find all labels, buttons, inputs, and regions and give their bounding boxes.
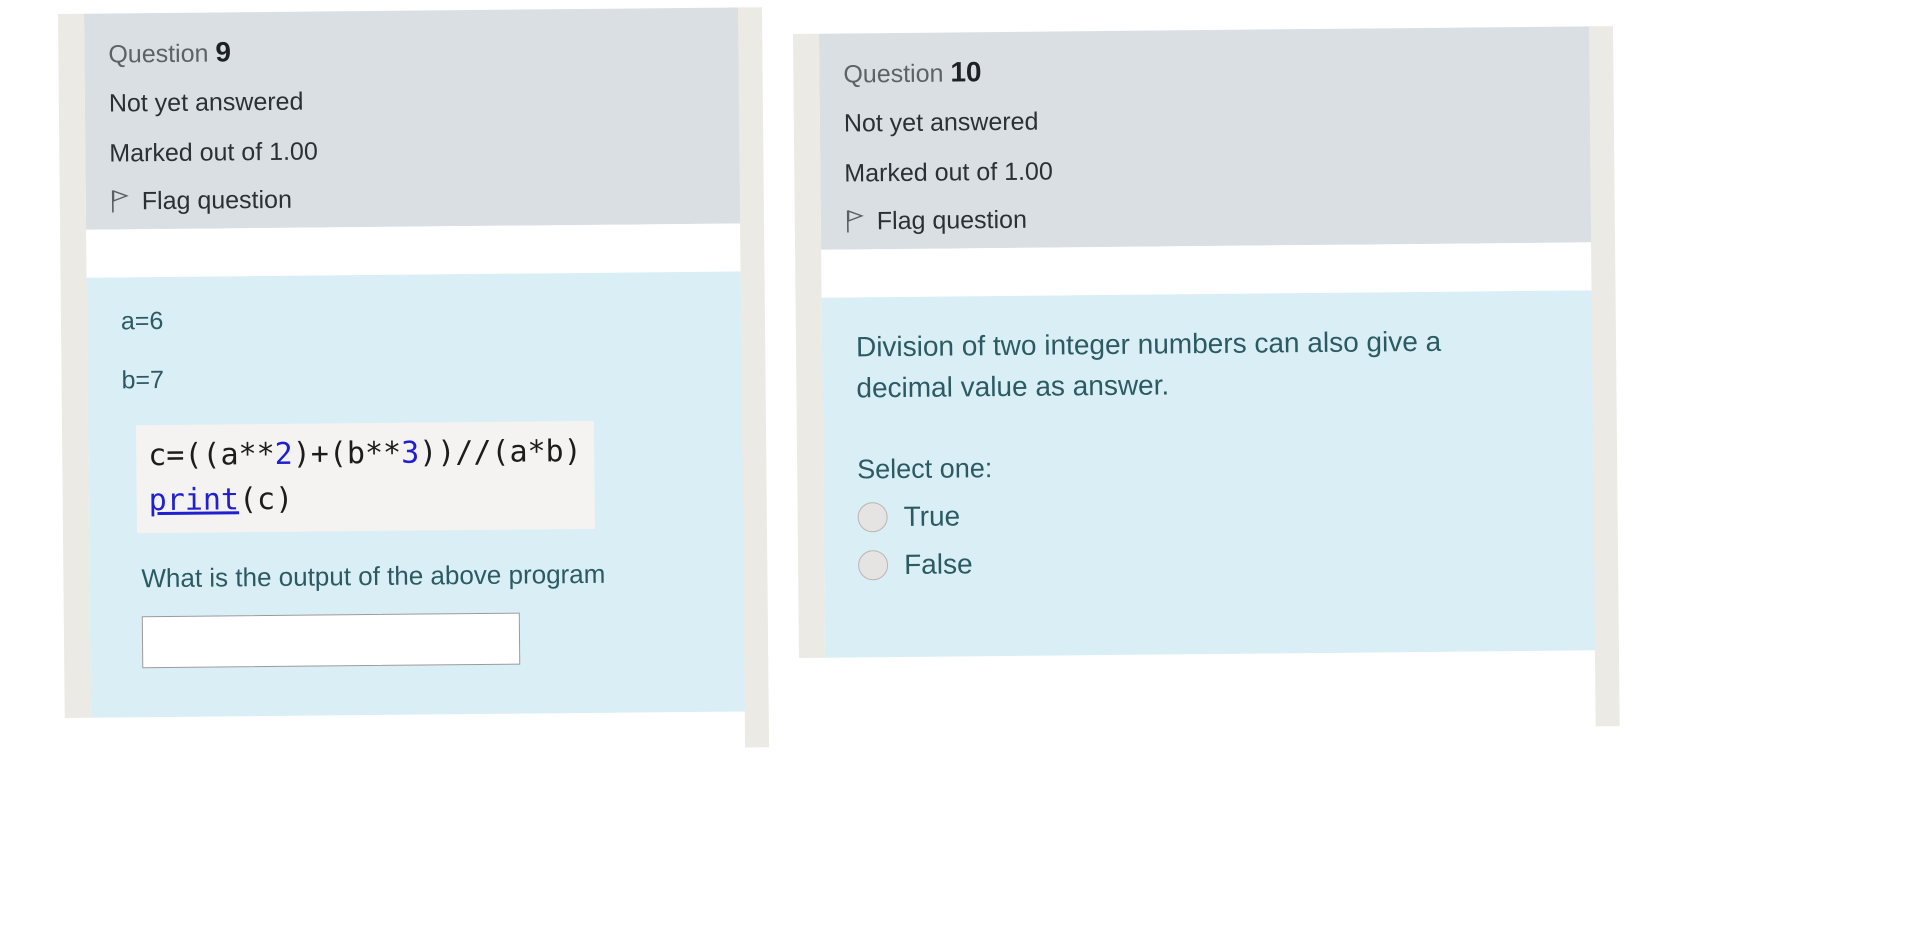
question-content: a=6 b=7 c=((a**2)+(b**3))//(a*b) print(c…: [87, 271, 755, 717]
code-variable-a: a=6: [121, 302, 723, 337]
code-line-1: c=((a**2)+(b**3))//(a*b): [148, 434, 582, 473]
question-content: Division of two integer numbers can also…: [822, 290, 1599, 657]
question-state: Not yet answered: [109, 83, 725, 120]
question-statement: Division of two integer numbers can also…: [856, 322, 1447, 409]
question-grade: Marked out of 1.00: [844, 151, 1570, 189]
answer-option-label: False: [904, 548, 973, 581]
flag-question-label: Flag question: [142, 186, 292, 216]
flag-question-button[interactable]: Flag question: [845, 200, 1571, 236]
question-grade: Marked out of 1.00: [109, 132, 725, 169]
code-block: c=((a**2)+(b**3))//(a*b) print(c): [136, 421, 595, 533]
code-line-2: print(c): [149, 482, 294, 518]
question-number: Question 9: [108, 30, 724, 71]
question-gap: [86, 223, 750, 277]
flag-icon: [110, 190, 130, 214]
question-number-label: Question: [843, 60, 943, 89]
question-number: Question 10: [843, 49, 1569, 91]
radio-button-false[interactable]: [858, 550, 888, 580]
question-state: Not yet answered: [844, 102, 1570, 140]
answer-input[interactable]: [142, 613, 520, 669]
radio-button-true[interactable]: [858, 502, 888, 532]
flag-icon: [845, 210, 865, 234]
select-one-label: Select one:: [857, 448, 1569, 486]
question-card-9: Question 9 Not yet answered Marked out o…: [58, 7, 755, 718]
question-gap: [821, 242, 1595, 297]
flag-question-label: Flag question: [877, 206, 1027, 236]
answer-option-true[interactable]: True: [857, 495, 1569, 534]
question-card-10: Question 10 Not yet answered Marked out …: [793, 26, 1599, 658]
question-number-label: Question: [108, 40, 208, 69]
question-info-header: Question 10 Not yet answered Marked out …: [819, 26, 1595, 249]
quiz-page: Question 9 Not yet answered Marked out o…: [0, 0, 1920, 951]
answer-option-label: True: [903, 501, 960, 534]
code-variable-b: b=7: [121, 361, 723, 396]
flag-question-button[interactable]: Flag question: [110, 181, 726, 216]
question-info-header: Question 9 Not yet answered Marked out o…: [84, 7, 750, 229]
question-prompt: What is the output of the above program: [141, 558, 725, 595]
question-number-value: 10: [950, 56, 981, 87]
question-number-value: 9: [215, 36, 231, 67]
answer-option-false[interactable]: False: [858, 543, 1570, 582]
